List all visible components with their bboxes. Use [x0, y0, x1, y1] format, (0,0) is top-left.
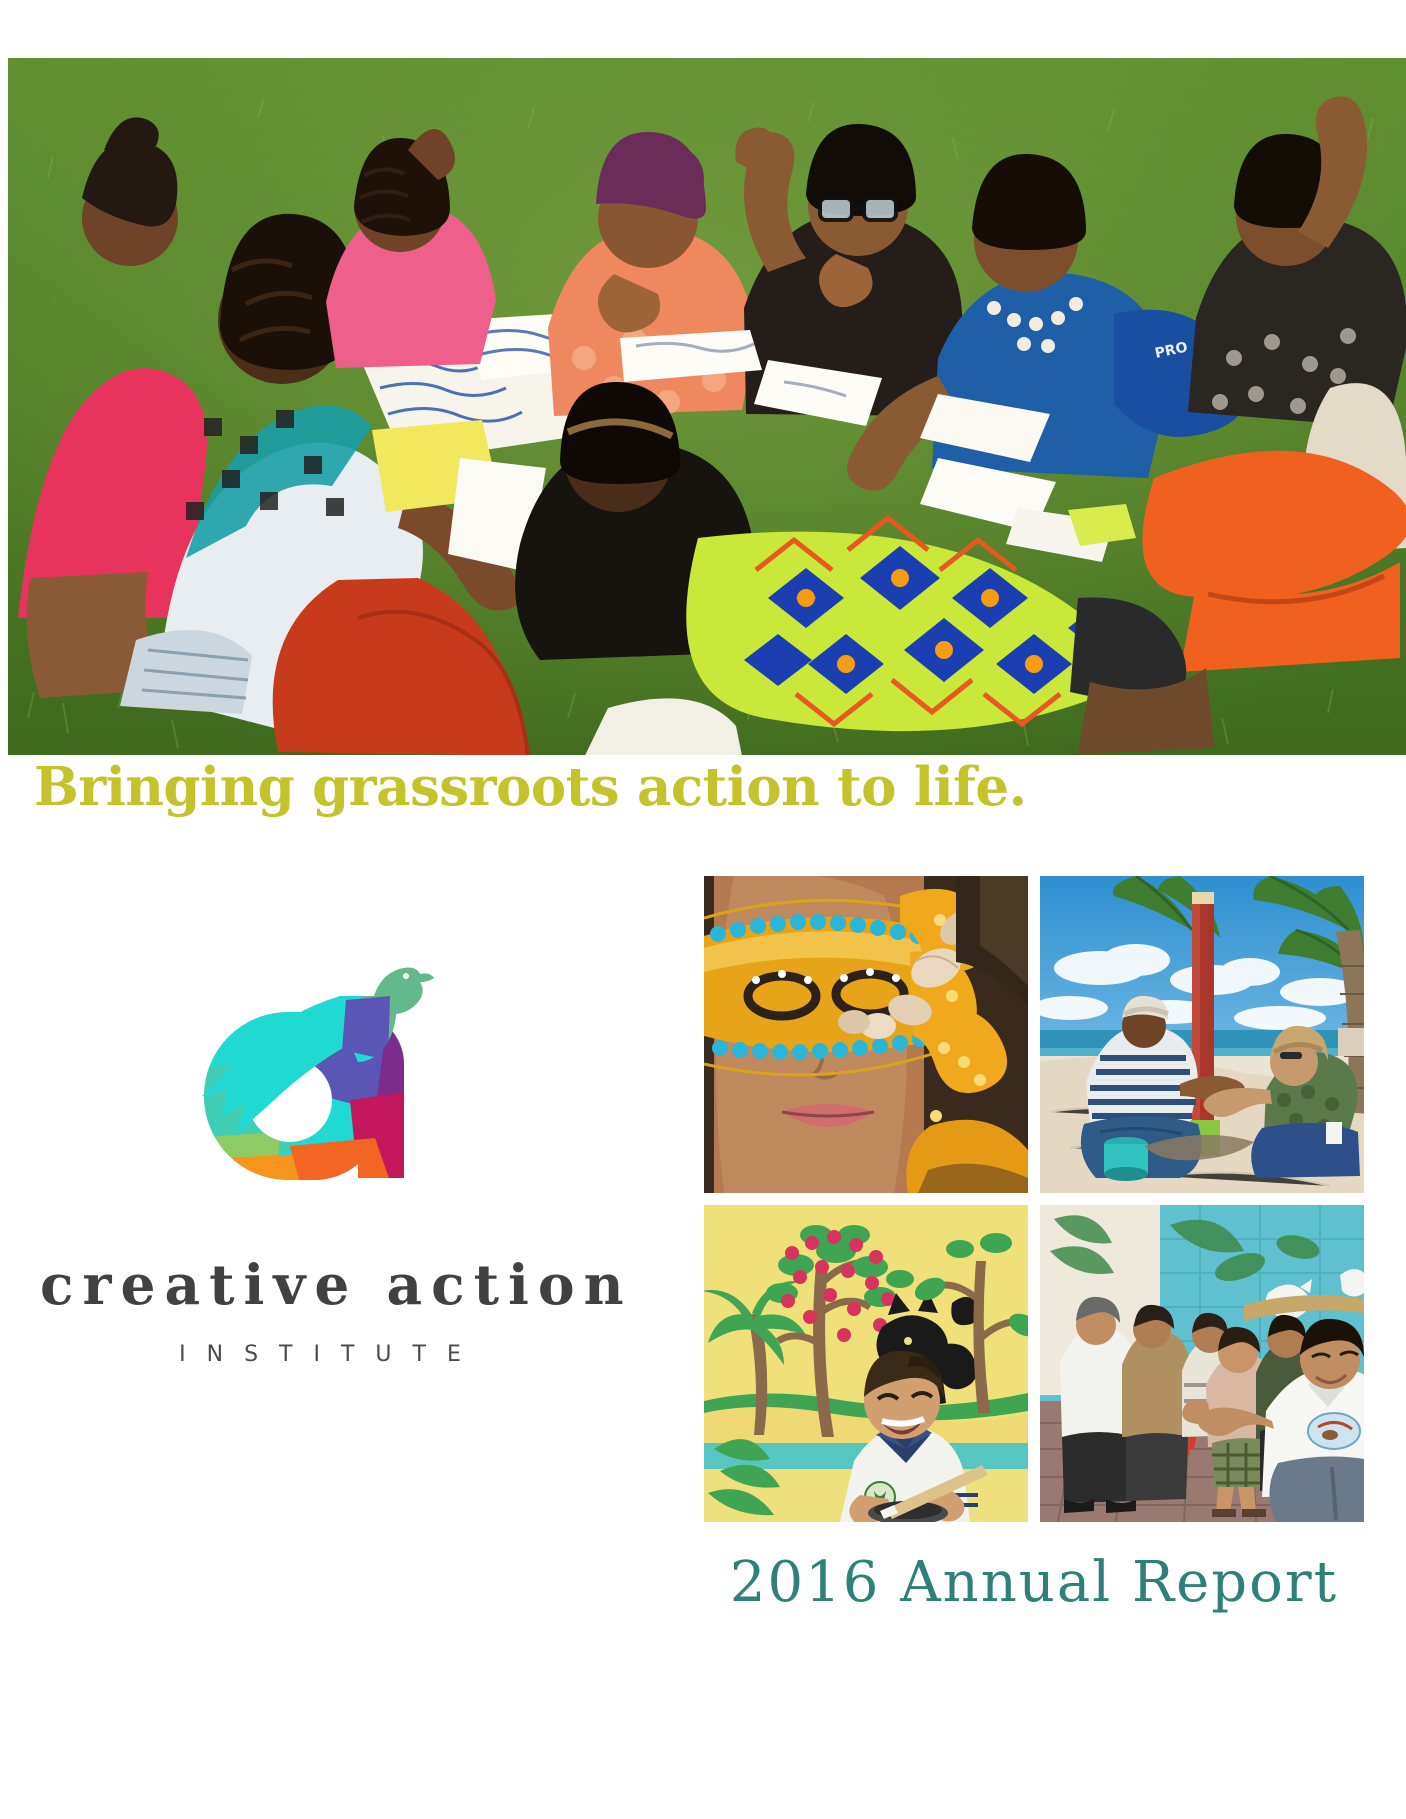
hero-photo: PRO: [8, 58, 1406, 755]
tagline: Bringing grassroots action to life.: [34, 760, 1027, 816]
creative-action-bird-a-logomark: [160, 900, 490, 1230]
grid-cell-beach-post-painting: [1040, 876, 1364, 1193]
checked-cloth: [120, 630, 252, 714]
photo-grid: [704, 876, 1364, 1522]
beach-post-illustration: [1040, 876, 1364, 1193]
masked-girl-illustration: [704, 876, 1028, 1193]
grid-cell-masked-girl: [704, 876, 1028, 1193]
grid-cell-boy-with-mural: [704, 1205, 1028, 1522]
boy-mural-illustration: [704, 1205, 1028, 1522]
theatre-group-illustration: [1040, 1205, 1364, 1522]
hero-photo-illustration: PRO: [8, 58, 1406, 755]
report-title: 2016 Annual Report: [704, 1550, 1364, 1615]
bird-eye: [403, 973, 409, 979]
logomark-svg: [160, 900, 490, 1230]
logo-block: creative action INSTITUTE: [40, 900, 600, 1460]
logo-subword: INSTITUTE: [40, 1342, 600, 1367]
logomark-letter-a: [160, 900, 490, 1230]
grid-cell-theatre-exercise-group: [1040, 1205, 1364, 1522]
logo-wordmark: creative action: [40, 1252, 600, 1317]
